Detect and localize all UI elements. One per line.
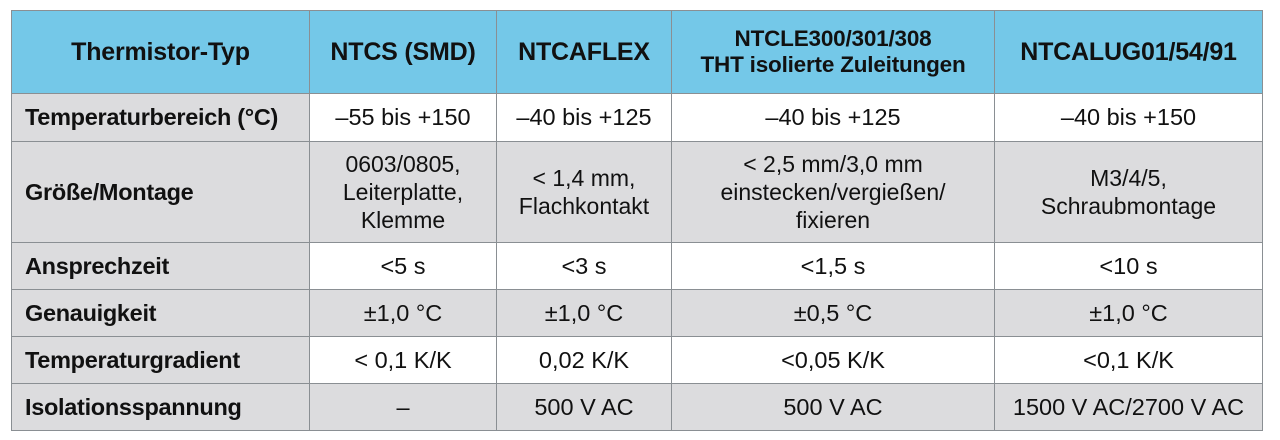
cell-temperaturgradient-ntcaflex: 0,02 K/K [497, 337, 672, 384]
specification-table-container: Thermistor-Typ NTCS (SMD) NTCAFLEX NTCLE… [11, 10, 1262, 430]
cell-genauigkeit-ntcle300: ±0,5 °C [672, 290, 995, 337]
table-row: Ansprechzeit <5 s <3 s <1,5 s <10 s [12, 243, 1263, 290]
cell-line: fixieren [678, 206, 988, 234]
cell-temperaturbereich-ntcs: –55 bis +150 [310, 94, 497, 142]
table-row: Isolationsspannung – 500 V AC 500 V AC 1… [12, 384, 1263, 431]
cell-line: 0603/0805, [316, 150, 490, 178]
table-header: Thermistor-Typ NTCS (SMD) NTCAFLEX NTCLE… [12, 11, 1263, 94]
cell-line: Klemme [316, 206, 490, 234]
cell-ansprechzeit-ntcaflex: <3 s [497, 243, 672, 290]
column-header-ntcle300: NTCLE300/301/308 THT isolierte Zuleitung… [672, 11, 995, 94]
table-row: Genauigkeit ±1,0 °C ±1,0 °C ±0,5 °C ±1,0… [12, 290, 1263, 337]
cell-genauigkeit-ntcaflex: ±1,0 °C [497, 290, 672, 337]
cell-temperaturgradient-ntcs: < 0,1 K/K [310, 337, 497, 384]
cell-groesse-montage-ntcs: 0603/0805, Leiterplatte, Klemme [310, 142, 497, 243]
table-row: Temperaturgradient < 0,1 K/K 0,02 K/K <0… [12, 337, 1263, 384]
cell-line: < 1,4 mm, [503, 164, 665, 192]
cell-temperaturbereich-ntcle300: –40 bis +125 [672, 94, 995, 142]
cell-isolationsspannung-ntcs: – [310, 384, 497, 431]
cell-temperaturbereich-ntcalug01: –40 bis +150 [995, 94, 1263, 142]
cell-line: einstecken/vergießen/ [678, 178, 988, 206]
column-header-thermistor-typ: Thermistor-Typ [12, 11, 310, 94]
cell-ansprechzeit-ntcle300: <1,5 s [672, 243, 995, 290]
cell-line: < 2,5 mm/3,0 mm [678, 150, 988, 178]
row-label-genauigkeit: Genauigkeit [12, 290, 310, 337]
cell-ansprechzeit-ntcalug01: <10 s [995, 243, 1263, 290]
cell-line: Leiterplatte, [316, 178, 490, 206]
table-row: Temperaturbereich (°C) –55 bis +150 –40 … [12, 94, 1263, 142]
cell-temperaturgradient-ntcalug01: <0,1 K/K [995, 337, 1263, 384]
column-header-ntcaflex: NTCAFLEX [497, 11, 672, 94]
row-label-temperaturbereich: Temperaturbereich (°C) [12, 94, 310, 142]
cell-line: M3/4/5, [1001, 164, 1256, 192]
cell-ansprechzeit-ntcs: <5 s [310, 243, 497, 290]
header-row: Thermistor-Typ NTCS (SMD) NTCAFLEX NTCLE… [12, 11, 1263, 94]
cell-groesse-montage-ntcle300: < 2,5 mm/3,0 mm einstecken/vergießen/ fi… [672, 142, 995, 243]
cell-line: Schraubmontage [1001, 192, 1256, 220]
row-label-ansprechzeit: Ansprechzeit [12, 243, 310, 290]
table-row: Größe/Montage 0603/0805, Leiterplatte, K… [12, 142, 1263, 243]
cell-groesse-montage-ntcalug01: M3/4/5, Schraubmontage [995, 142, 1263, 243]
cell-isolationsspannung-ntcalug01: 1500 V AC/2700 V AC [995, 384, 1263, 431]
row-label-groesse-montage: Größe/Montage [12, 142, 310, 243]
cell-genauigkeit-ntcalug01: ±1,0 °C [995, 290, 1263, 337]
cell-isolationsspannung-ntcaflex: 500 V AC [497, 384, 672, 431]
thermistor-specification-table: Thermistor-Typ NTCS (SMD) NTCAFLEX NTCLE… [11, 10, 1263, 431]
row-label-isolationsspannung: Isolationsspannung [12, 384, 310, 431]
column-header-ntcs-smd: NTCS (SMD) [310, 11, 497, 94]
cell-groesse-montage-ntcaflex: < 1,4 mm, Flachkontakt [497, 142, 672, 243]
table-body: Temperaturbereich (°C) –55 bis +150 –40 … [12, 94, 1263, 431]
row-label-temperaturgradient: Temperaturgradient [12, 337, 310, 384]
cell-isolationsspannung-ntcle300: 500 V AC [672, 384, 995, 431]
cell-genauigkeit-ntcs: ±1,0 °C [310, 290, 497, 337]
column-header-ntcle300-line1: NTCLE300/301/308 [678, 26, 988, 52]
cell-temperaturgradient-ntcle300: <0,05 K/K [672, 337, 995, 384]
cell-temperaturbereich-ntcaflex: –40 bis +125 [497, 94, 672, 142]
cell-line: Flachkontakt [503, 192, 665, 220]
column-header-ntcalug01: NTCALUG01/54/91 [995, 11, 1263, 94]
column-header-ntcle300-line2: THT isolierte Zuleitungen [678, 52, 988, 78]
